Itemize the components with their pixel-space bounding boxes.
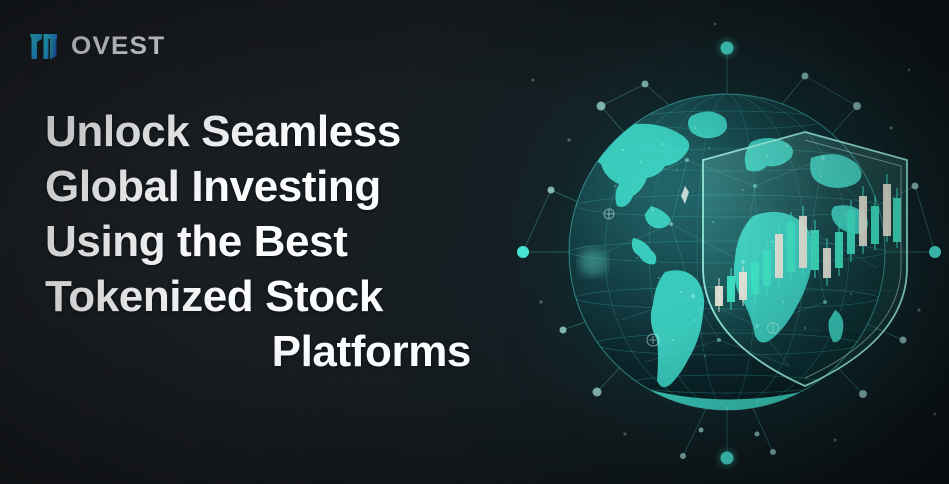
node-glow-top [717,38,737,58]
headline-line-2: Global Investing [45,159,485,214]
headline: Unlock Seamless Global Investing Using t… [45,104,485,379]
globe-svg [505,10,949,484]
headline-line-1: Unlock Seamless [45,104,485,159]
headline-line-4: Tokenized Stock [45,269,485,324]
headline-line-5: Platforms [45,324,485,379]
logo-wordmark: OVEST [71,34,165,59]
digital-globe-illustration [505,10,949,484]
tovest-t-mark-icon [26,26,66,66]
headline-line-3: Using the Best [45,214,485,269]
node-glow-bottom [717,448,737,468]
brand-logo[interactable]: OVEST [26,26,162,66]
hero-banner: OVEST Unlock Seamless Global Investing U… [0,0,949,484]
globe-limb-glow [579,248,607,276]
